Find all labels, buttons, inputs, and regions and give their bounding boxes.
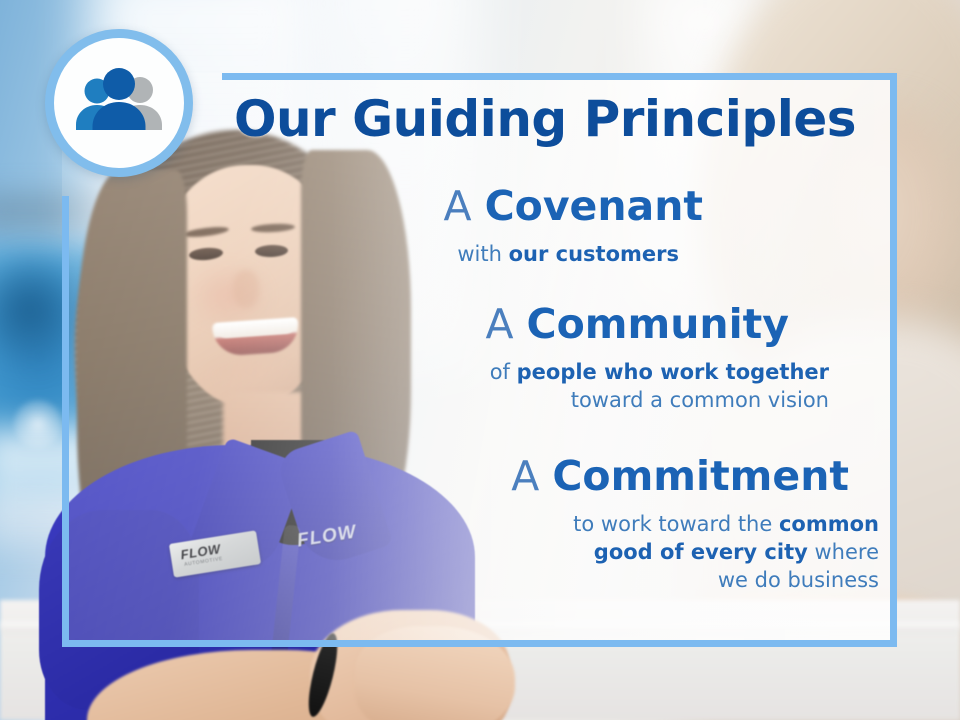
principle-2-subtext: of people who work together toward a com… (62, 346, 897, 414)
principle-3-heading: A Commitment (62, 455, 897, 498)
principle-2-subline-2-part-1: toward a common vision (571, 388, 829, 412)
principle-3-keyword: Commitment (552, 452, 849, 500)
principle-3-subline-3: we do business (62, 567, 879, 595)
principle-3-subline-1-part-2: common (779, 512, 879, 536)
principle-3-subline-2-part-1: good of every city (594, 540, 808, 564)
principle-2-subline-1-part-1: of (490, 360, 517, 384)
principle-1-subline-1-part-2: our customers (509, 242, 679, 266)
principle-3-subline-1-part-1: to work toward the (573, 512, 779, 536)
principle-3-subline-1: to work toward the common (62, 511, 879, 539)
principle-2-subline-1: of people who work together (62, 359, 829, 387)
principle-2-article: A (485, 300, 526, 348)
principle-3-subline-2-part-2: where (808, 540, 879, 564)
principle-community: A Community of people who work together … (62, 303, 897, 415)
principle-2-heading: A Community (62, 303, 897, 346)
principle-1-keyword: Covenant (485, 182, 703, 230)
principle-1-heading: A Covenant (62, 185, 897, 228)
principle-3-subline-2: good of every city where (62, 539, 879, 567)
principle-2-subline-1-part-2: people who work together (517, 360, 829, 384)
principle-1-subtext: with our customers (62, 228, 897, 269)
text-content: Our Guiding Principles A Covenant with o… (62, 73, 897, 647)
principle-2-keyword: Community (527, 300, 789, 348)
principle-1-subline-1: with our customers (62, 241, 679, 269)
principle-2-subline-2: toward a common vision (62, 387, 829, 415)
principle-1-article: A (443, 182, 484, 230)
principle-3-subline-3-part-1: we do business (718, 568, 879, 592)
principle-1-subline-1-part-1: with (457, 242, 508, 266)
poster-canvas: FLOW FLOW AUTOMOTIVE (0, 0, 960, 720)
page-title: Our Guiding Principles (220, 93, 870, 145)
principle-covenant: A Covenant with our customers (62, 185, 897, 269)
principle-3-article: A (511, 452, 552, 500)
principle-3-subtext: to work toward the common good of every … (62, 498, 897, 594)
principle-commitment: A Commitment to work toward the common g… (62, 455, 897, 595)
